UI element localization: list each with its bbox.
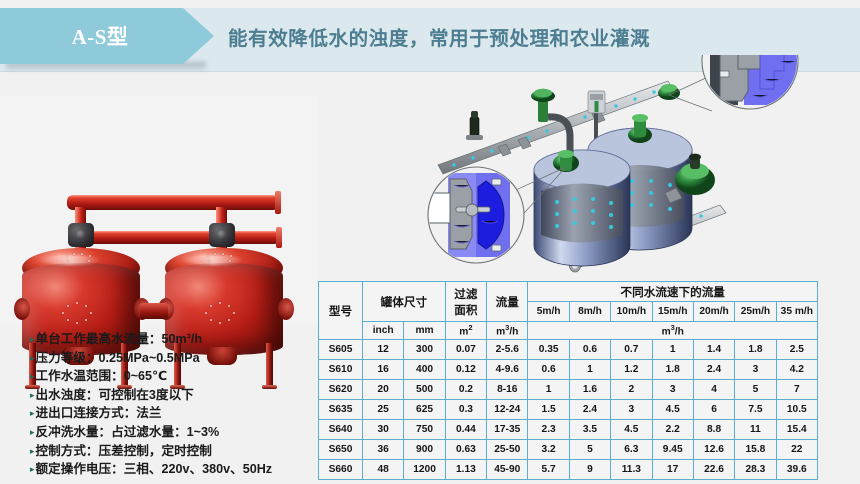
cell-mm: 500 [404,380,445,400]
cell-v8: 1 [569,360,610,380]
cell-model: S605 [319,340,363,360]
cell-v10: 3 [611,400,652,420]
cell-v5: 1.5 [528,400,569,420]
spec-text: 压力等级：0.25MPa~0.5MPa [36,349,200,368]
table-head: 型号 罐体尺寸 过滤面积 流量 不同水流速下的流量 5m/h 8m/h 10m/… [319,282,818,340]
cell-v15: 2.2 [652,420,693,440]
cell-v5: 0.35 [528,340,569,360]
spec-text: 进出口连接方式：法兰 [36,404,162,423]
cell-flow: 8-16 [487,380,528,400]
system-schematic-diagram [420,55,860,280]
spec-text: 控制方式：压差控制，定时控制 [36,442,212,461]
cell-v5: 3.2 [528,440,569,460]
cell-inch: 25 [363,400,404,420]
bullet-icon: ▸ [30,367,35,386]
manway-bolts-left [60,302,96,324]
cell-area: 0.3 [445,400,486,420]
top-pipe-endcap [275,191,281,214]
cell-v10: 2 [611,380,652,400]
spec-text: 工作水温范围：0~65℃ [36,367,168,386]
table-row: S620 20 500 0.2 8-16 1 1.6 2 3 4 5 7 [319,380,818,400]
cell-area: 0.63 [445,440,486,460]
bullet-icon: ▸ [30,460,35,479]
th-v-20: 20m/h [693,302,734,322]
cell-mm: 1200 [404,460,445,480]
cell-v35: 10.5 [776,400,817,420]
cell-inch: 30 [363,420,404,440]
section-banner: A-S型 [0,8,214,64]
cell-model: S660 [319,460,363,480]
cell-flow: 25-50 [487,440,528,460]
cell-flow: 17-35 [487,420,528,440]
cell-v35: 7 [776,380,817,400]
cell-area: 0.07 [445,340,486,360]
cell-v15: 17 [652,460,693,480]
cell-flow: 4-9.6 [487,360,528,380]
cell-mm: 400 [404,360,445,380]
cell-model: S620 [319,380,363,400]
cell-v35: 2.5 [776,340,817,360]
spec-item-6: ▸ 反冲洗水量：占过滤水量：1~3% [30,423,320,442]
table-row: S610 16 400 0.12 4-9.6 0.6 1 1.2 1.8 2.4… [319,360,818,380]
bullet-icon: ▸ [30,442,35,461]
table-row: S660 48 1200 1.13 45-90 5.7 9 11.3 17 22… [319,460,818,480]
cell-area: 1.13 [445,460,486,480]
cell-v8: 5 [569,440,610,460]
th-velocity-group: 不同水流速下的流量 [528,282,818,302]
valve-knob-left [76,230,86,240]
th-v-8: 8m/h [569,302,610,322]
spec-item-1: ▸ 单台工作最高水流量：50m³/h [30,330,320,349]
table-units-row: inch mm m2 m3/h m3/h [319,322,818,340]
valve-knob-right [217,230,227,240]
cell-v25: 3 [735,360,776,380]
cell-inch: 36 [363,440,404,460]
cell-v10: 6.3 [611,440,652,460]
cell-v20: 1.4 [693,340,734,360]
cell-inch: 16 [363,360,404,380]
cell-mm: 750 [404,420,445,440]
cell-inch: 48 [363,460,404,480]
table-row: S605 12 300 0.07 2-5.6 0.35 0.6 0.7 1 1.… [319,340,818,360]
cell-v25: 5 [735,380,776,400]
page-subtitle: 能有效降低水的浊度，常用于预处理和农业灌溉 [228,8,650,64]
th-tank-size: 罐体尺寸 [363,282,446,322]
cell-area: 0.2 [445,380,486,400]
cell-v8: 3.5 [569,420,610,440]
side-nozzle-4 [278,298,294,320]
product-photo [0,95,318,325]
specification-list: ▸ 单台工作最高水流量：50m³/h ▸ 压力等级：0.25MPa~0.5MPa… [30,330,320,479]
th-flow: 流量 [487,282,528,322]
cell-v20: 8.8 [693,420,734,440]
spec-item-7: ▸ 控制方式：压差控制，定时控制 [30,442,320,461]
th-v-5: 5m/h [528,302,569,322]
th-unit-flow: m3/h [487,322,528,340]
table-row: S650 36 900 0.63 25-50 3.2 5 6.3 9.45 12… [319,440,818,460]
cell-v25: 1.8 [735,340,776,360]
cell-v20: 4 [693,380,734,400]
schematic-svg [420,55,860,280]
th-v-10: 10m/h [611,302,652,322]
lower-pipe-endcap [276,227,282,248]
cell-inch: 12 [363,340,404,360]
bullet-icon: ▸ [30,404,35,423]
cell-v5: 0.6 [528,360,569,380]
th-unit-mm: mm [404,322,445,340]
th-filter-area: 过滤面积 [445,282,486,322]
cell-v25: 7.5 [735,400,776,420]
cell-flow: 12-24 [487,400,528,420]
cell-v5: 1 [528,380,569,400]
cell-v35: 4.2 [776,360,817,380]
table-header-row-1: 型号 罐体尺寸 过滤面积 流量 不同水流速下的流量 [319,282,818,302]
th-model: 型号 [319,282,363,340]
cell-v8: 2.4 [569,400,610,420]
cell-v20: 22.6 [693,460,734,480]
spec-item-3: ▸ 工作水温范围：0~65℃ [30,367,320,386]
bullet-icon: ▸ [30,349,35,368]
cell-v25: 28.3 [735,460,776,480]
th-unit-area: m2 [445,322,486,340]
cell-v25: 11 [735,420,776,440]
cell-model: S640 [319,420,363,440]
spec-text: 出水浊度：可控制在3度以下 [36,386,194,405]
cell-v15: 9.45 [652,440,693,460]
cell-v20: 6 [693,400,734,420]
cell-flow: 45-90 [487,460,528,480]
side-nozzle-1 [14,298,30,320]
cell-v35: 22 [776,440,817,460]
th-v-35: 35 m/h [776,302,817,322]
cell-v10: 4.5 [611,420,652,440]
cell-v10: 0.7 [611,340,652,360]
cell-v20: 12.6 [693,440,734,460]
flange-bolts-right [203,251,239,273]
cell-area: 0.44 [445,420,486,440]
spec-text: 额定操作电压：三相、220v、380v、50Hz [36,460,273,479]
cell-v15: 4.5 [652,400,693,420]
spec-text: 反冲洗水量：占过滤水量：1~3% [36,423,220,442]
table-row: S635 25 625 0.3 12-24 1.5 2.4 3 4.5 6 7.… [319,400,818,420]
cell-v5: 5.7 [528,460,569,480]
cell-mm: 300 [404,340,445,360]
cell-area: 0.12 [445,360,486,380]
spec-item-5: ▸ 进出口连接方式：法兰 [30,404,320,423]
cell-v15: 3 [652,380,693,400]
cell-v8: 9 [569,460,610,480]
cell-v15: 1.8 [652,360,693,380]
table-row: S640 30 750 0.44 17-35 2.3 3.5 4.5 2.2 8… [319,420,818,440]
cell-model: S650 [319,440,363,460]
th-v-25: 25m/h [735,302,776,322]
cell-v35: 15.4 [776,420,817,440]
cell-v8: 0.6 [569,340,610,360]
spec-item-8: ▸ 额定操作电压：三相、220v、380v、50Hz [30,460,320,479]
table-body: S605 12 300 0.07 2-5.6 0.35 0.6 0.7 1 1.… [319,340,818,480]
spec-text: 单台工作最高水流量：50m³/h [36,330,203,349]
cell-model: S610 [319,360,363,380]
cell-v8: 1.6 [569,380,610,400]
th-v-15: 15m/h [652,302,693,322]
spec-item-4: ▸ 出水浊度：可控制在3度以下 [30,386,320,405]
tank-cross-connection [140,303,168,319]
detail-callout-left [428,167,524,263]
cell-v5: 2.3 [528,420,569,440]
cell-v25: 15.8 [735,440,776,460]
specification-table: 型号 罐体尺寸 过滤面积 流量 不同水流速下的流量 5m/h 8m/h 10m/… [318,281,818,480]
filter-tank-front [534,150,630,266]
spec-item-2: ▸ 压力等级：0.25MPa~0.5MPa [30,349,320,368]
bullet-icon: ▸ [30,386,35,405]
top-manifold-pipe [67,195,279,210]
cell-v15: 1 [652,340,693,360]
cell-v20: 2.4 [693,360,734,380]
bullet-icon: ▸ [30,423,35,442]
detail-callout-right [702,55,806,109]
cell-mm: 900 [404,440,445,460]
flange-bolts-left [62,251,98,273]
air-release-valve [466,111,483,140]
cell-flow: 2-5.6 [487,340,528,360]
cell-v10: 1.2 [611,360,652,380]
cell-v10: 11.3 [611,460,652,480]
bullet-icon: ▸ [30,330,35,349]
cell-model: S635 [319,400,363,420]
cell-mm: 625 [404,400,445,420]
cell-v35: 39.6 [776,460,817,480]
lower-manifold-pipe [78,231,280,244]
cell-inch: 20 [363,380,404,400]
th-unit-velocity: m3/h [528,322,818,340]
banner-title: A-S型 [72,21,129,51]
th-unit-inch: inch [363,322,404,340]
manway-bolts-right [203,302,239,324]
spec-table-container: 型号 罐体尺寸 过滤面积 流量 不同水流速下的流量 5m/h 8m/h 10m/… [318,281,818,480]
